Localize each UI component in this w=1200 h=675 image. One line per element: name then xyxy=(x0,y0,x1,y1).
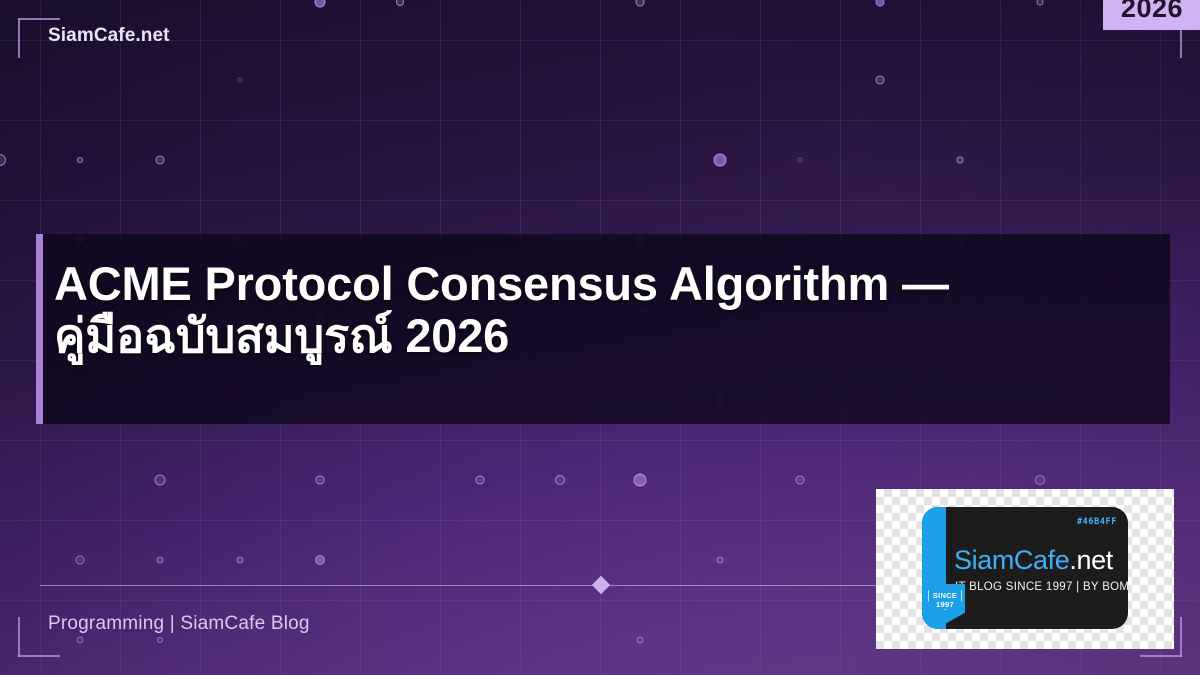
logo-hex-code: #46B4FF xyxy=(1077,517,1117,527)
background-node xyxy=(476,476,485,485)
background-node xyxy=(717,557,724,564)
logo-badge: #46B4FF SiamCafe.net IT BLOG SINCE 1997 … xyxy=(922,507,1128,629)
logo-card: #46B4FF SiamCafe.net IT BLOG SINCE 1997 … xyxy=(876,489,1174,649)
background-node xyxy=(714,154,727,167)
logo-wordmark-primary: SiamCafe xyxy=(954,545,1069,575)
background-node xyxy=(315,0,326,8)
background-node xyxy=(315,555,325,565)
background-node xyxy=(157,637,163,643)
logo-tagline: IT BLOG SINCE 1997 | BY BOM xyxy=(955,581,1128,593)
logo-wordmark-suffix: .net xyxy=(1069,545,1112,575)
slide-canvas: SiamCafe.net 2026 ACME Protocol Consensu… xyxy=(0,0,1200,675)
background-node xyxy=(77,157,83,163)
background-node xyxy=(798,158,803,163)
background-node xyxy=(634,474,647,487)
background-node xyxy=(396,0,404,6)
background-node xyxy=(156,156,165,165)
brand-name: SiamCafe.net xyxy=(48,25,170,47)
background-node xyxy=(796,476,805,485)
background-node xyxy=(876,0,885,7)
page-title: ACME Protocol Consensus Algorithm — คู่ม… xyxy=(54,258,1154,361)
background-node xyxy=(957,157,964,164)
year-badge: 2026 xyxy=(1103,0,1200,30)
background-node xyxy=(237,557,244,564)
divider-diamond-icon xyxy=(592,576,610,594)
background-node xyxy=(238,78,243,83)
background-node xyxy=(555,475,565,485)
title-accent-bar xyxy=(36,234,43,424)
bracket-horizontal xyxy=(18,655,60,657)
breadcrumb: Programming | SiamCafe Blog xyxy=(48,613,310,635)
logo-wordmark: SiamCafe.net xyxy=(954,545,1113,576)
background-node xyxy=(157,557,164,564)
background-node xyxy=(77,637,84,644)
background-node xyxy=(636,0,645,7)
background-node xyxy=(316,476,325,485)
background-node xyxy=(76,556,85,565)
bracket-vertical xyxy=(18,617,20,657)
bracket-horizontal xyxy=(18,18,60,20)
background-node xyxy=(1035,475,1045,485)
bracket-vertical xyxy=(1180,617,1182,657)
background-node xyxy=(155,475,166,486)
background-node xyxy=(876,76,885,85)
background-node xyxy=(0,154,6,166)
background-node xyxy=(637,637,644,644)
background-node xyxy=(1037,0,1044,6)
bracket-vertical xyxy=(18,18,20,58)
bracket-horizontal xyxy=(1140,655,1182,657)
